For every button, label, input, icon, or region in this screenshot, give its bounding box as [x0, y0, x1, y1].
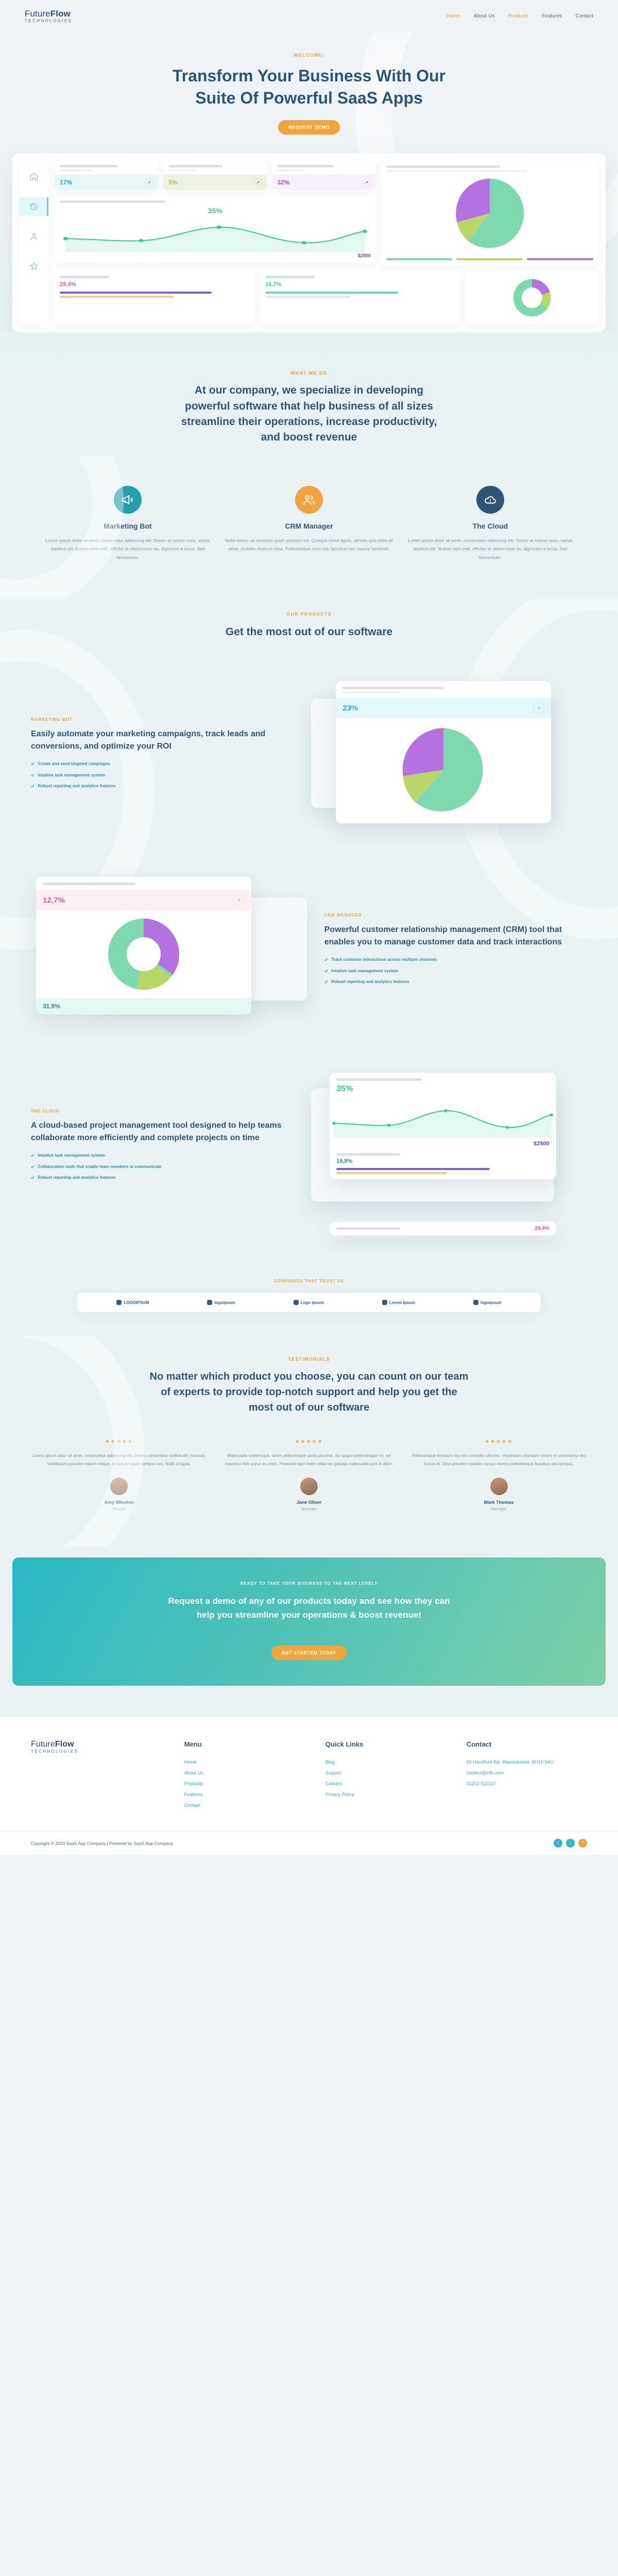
check-icon: ✔: [31, 1153, 35, 1160]
mock-front-card: 12,7% ↗ 31,9%: [36, 877, 251, 1014]
mock-front-card: 35% $2500 16,8%: [330, 1073, 556, 1179]
pie-chart: [398, 724, 489, 815]
check-icon: ✔: [31, 772, 35, 779]
donut-chart: [513, 279, 551, 317]
line-chart-amount: $2500: [60, 253, 371, 258]
what-we-do-title: At our company, we specialize in develop…: [175, 383, 443, 446]
bullet-text: Create and send targeted campaigns: [38, 761, 110, 767]
testimonial-name: Amy Winston: [31, 1500, 208, 1505]
users-icon: [295, 486, 323, 514]
company-logo: Logo ipsum: [294, 1300, 324, 1305]
footer-link-blog[interactable]: Blog: [325, 1759, 446, 1765]
feature-heading: A cloud-based project management tool de…: [31, 1120, 294, 1144]
footer-address: 56 Hendford Rd, Warwickshire, BH10 5AU: [467, 1759, 587, 1765]
card-marketing-bot: Marketing Bot Lorem ipsum dolor sit amet…: [43, 486, 213, 562]
nav-item-features[interactable]: Features: [542, 13, 562, 19]
check-icon: ✔: [31, 1175, 35, 1182]
products-title: Get the most out of our software: [0, 624, 618, 640]
line-chart-panel: 35% $2500: [55, 195, 376, 263]
kpi-value: 5%: [168, 179, 177, 186]
kpi-card: 5% ↗: [163, 160, 267, 190]
footer-link-products[interactable]: Products: [184, 1781, 305, 1786]
feature-visual: 35% $2500 16,8%: [311, 1073, 587, 1222]
feature-visual: 23% ↗: [311, 681, 587, 831]
request-demo-button[interactable]: REQUEST DEMO: [278, 120, 340, 134]
what-we-do-eyebrow: WHAT WE DO: [0, 370, 618, 376]
footer-link-privacy[interactable]: Privacy Policy: [325, 1792, 446, 1797]
footer-brand: FutureFlow TECHNOLOGIES: [31, 1740, 164, 1814]
company-logo-label: logoipsum: [214, 1300, 235, 1305]
rating-stars-icon: ★★★★★: [410, 1439, 587, 1445]
testimonial-list: ★★★★★ Lorem ipsum dolor sit amet, consec…: [0, 1439, 618, 1511]
bullet-text: Intuitive task management system: [38, 1153, 105, 1159]
feature-cards: Marketing Bot Lorem ipsum dolor sit amet…: [0, 456, 618, 599]
trend-up-icon: ↗: [533, 702, 544, 714]
footer-link-about[interactable]: About Us: [184, 1770, 305, 1775]
trend-up-icon: ↗: [145, 178, 153, 187]
footer-menu-column: Menu Home About Us Products Features Con…: [184, 1740, 305, 1814]
stat-panel-b: 16,7%: [260, 270, 460, 325]
stat-value: 16,7%: [265, 281, 281, 287]
bullet-text: Robust reporting and analytics features: [38, 783, 116, 789]
mock-front-card: 23% ↗: [336, 681, 551, 823]
star-icon: [29, 262, 39, 271]
kpi-value: 17%: [60, 179, 72, 186]
footer-link-features[interactable]: Features: [184, 1792, 305, 1797]
cta-label: READY TO TAKE YOUR BUSINESS TO THE NEXT …: [23, 1581, 595, 1586]
testimonial-name: Mark Thomas: [410, 1500, 587, 1505]
card-body: Lorem ipsum dolor sit amet, consectetur …: [405, 536, 575, 562]
sidebar-item-profile[interactable]: [20, 227, 48, 246]
company-logo: Lorem Ipsum: [382, 1300, 415, 1305]
footer-bar: Copyright © 2023 SaaS App Company | Powe…: [0, 1831, 618, 1855]
feature-label: MARKETING BOT: [31, 717, 294, 722]
testimonial-quote: Lorem ipsum dolor sit amet, consectetur …: [31, 1452, 208, 1468]
feature-stat: 35%: [336, 1084, 549, 1094]
feature-sub-b: 29,4%: [535, 1226, 549, 1231]
donut-bottom-stat: 31,9%: [43, 1003, 60, 1010]
cta-title: Request a demo of any of our products to…: [165, 1594, 453, 1622]
feature-sub-a: 16,8%: [336, 1158, 549, 1164]
bullet-item: ✔Intuitive task management system: [324, 968, 587, 975]
feature-heading: Powerful customer relationship managemen…: [324, 924, 587, 948]
check-icon: ✔: [31, 1164, 35, 1171]
copyright-text: Copyright © 2023 SaaS App Company | Powe…: [31, 1841, 173, 1846]
logo-mark-icon: [294, 1300, 299, 1305]
card-crm-manager: CRM Manager Nulla metus, ac tincidunt qu…: [224, 486, 394, 562]
user-icon: [29, 232, 39, 241]
footer-contact-title: Contact: [467, 1740, 587, 1748]
testimonial-item: ★★★★★ Lorem ipsum dolor sit amet, consec…: [31, 1439, 208, 1511]
brand-tagline: TECHNOLOGIES: [25, 19, 72, 23]
sidebar-item-favorites[interactable]: [20, 257, 48, 276]
footer-email[interactable]: contact@info.com: [467, 1770, 587, 1775]
dashboard-sidebar: [20, 160, 48, 325]
page-root: FutureFlow TECHNOLOGIES Home About Us Pr…: [0, 0, 618, 1855]
bullet-text: Collaboration tools that enable team mem…: [38, 1164, 162, 1170]
check-icon: ✔: [31, 783, 35, 790]
brand-tagline: TECHNOLOGIES: [31, 1750, 164, 1754]
site-header: FutureFlow TECHNOLOGIES Home About Us Pr…: [0, 0, 618, 32]
trend-up-icon: ↗: [253, 178, 262, 187]
bullet-text: Track customer interactions across multi…: [331, 957, 437, 963]
company-logo: logoipsum: [207, 1300, 235, 1305]
feature-marketing-bot: MARKETING BOT Easily automate your marke…: [0, 666, 618, 861]
donut-top-stat: 12,7%: [43, 896, 65, 905]
feature-label: THE CLOUD: [31, 1109, 294, 1113]
stat-panel-a: 29,4%: [55, 270, 255, 325]
testimonials-title: No matter which product you choose, you …: [149, 1369, 469, 1415]
feature-visual: 12,7% ↗ 31,9%: [31, 877, 307, 1026]
kpi-card: 17% ↗: [55, 160, 158, 190]
card-the-cloud: The Cloud Lorem ipsum dolor sit amet, co…: [405, 486, 575, 562]
logo-mark-icon: [382, 1300, 387, 1305]
avatar: [490, 1478, 508, 1495]
footer-contact-column: Contact 56 Hendford Rd, Warwickshire, BH…: [467, 1740, 587, 1814]
bullet-item: ✔Robust reporting and analytics features: [31, 1175, 294, 1182]
footer-phone[interactable]: 01202 511337: [467, 1781, 587, 1786]
main-nav: Home About Us Products Features Contact: [447, 13, 593, 19]
bullet-text: Robust reporting and analytics features: [331, 979, 409, 985]
products-header: OUR PRODUCTS Get the most out of our sof…: [0, 599, 618, 666]
check-icon: ✔: [31, 761, 35, 768]
testimonials-label: TESTIMONIALS: [0, 1357, 618, 1362]
line-chart-value: 35%: [60, 207, 371, 215]
mock-stat-strip: 29,4%: [330, 1222, 556, 1235]
nav-item-about[interactable]: About Us: [473, 13, 494, 19]
bullet-text: Intuitive task management system: [38, 772, 105, 778]
feature-bullets: ✔Track customer interactions across mult…: [324, 957, 587, 986]
companies-section: COMPANIES THAT TRUST US LOGOIPSUM logoip…: [0, 1253, 618, 1336]
back-to-top-icon[interactable]: ^: [578, 1839, 587, 1848]
brand-name-bold: Flow: [55, 1740, 74, 1749]
brand-name-light: Future: [25, 9, 50, 19]
testimonial-name: Jane Oliver: [221, 1500, 398, 1505]
testimonial-role: Director: [31, 1506, 208, 1511]
company-logo: LOGOIPSUM: [116, 1300, 149, 1305]
social-links: f t ^: [554, 1839, 587, 1848]
line-chart: [60, 216, 371, 253]
twitter-icon[interactable]: t: [566, 1839, 575, 1848]
logo-mark-icon: [207, 1300, 212, 1305]
feature-label: CRM MANAGER: [324, 913, 587, 918]
feature-the-cloud: THE CLOUD A cloud-based project manageme…: [0, 1057, 618, 1253]
cta-banner: READY TO TAKE YOUR BUSINESS TO THE NEXT …: [12, 1557, 606, 1686]
bullet-item: ✔Robust reporting and analytics features: [31, 783, 294, 790]
products-section: OUR PRODUCTS Get the most out of our sof…: [0, 599, 618, 1253]
card-title: CRM Manager: [224, 522, 394, 530]
bullet-item: ✔Collaboration tools that enable team me…: [31, 1164, 294, 1171]
megaphone-icon: [114, 486, 142, 514]
company-logo-label: Lorem Ipsum: [389, 1300, 415, 1305]
history-icon: [29, 202, 39, 211]
logo-mark-icon: [116, 1300, 122, 1305]
bullet-text: Intuitive task management system: [331, 968, 398, 974]
footer-link-careers[interactable]: Careers: [325, 1781, 446, 1786]
bullet-item: ✔Intuitive task management system: [31, 1153, 294, 1160]
feature-heading: Easily automate your marketing campaigns…: [31, 728, 294, 753]
testimonial-item: ★★★★★ Pellentesque tincidunt nisi nec co…: [410, 1439, 587, 1511]
check-icon: ✔: [324, 957, 329, 964]
pie-legend: [386, 258, 593, 260]
what-we-do-section: WHAT WE DO At our company, we specialize…: [0, 332, 618, 456]
company-logo-label: logoipsum: [480, 1300, 501, 1305]
stat-value: 29,4%: [60, 281, 76, 287]
footer-quick-title: Quick Links: [325, 1740, 446, 1748]
page-title: Transform Your Business With Our Suite O…: [165, 65, 453, 109]
trend-up-icon: ↗: [363, 178, 371, 187]
get-started-button[interactable]: GET STARTED TODAY: [271, 1646, 347, 1660]
card-body: Lorem ipsum dolor sit amet, consectetur …: [43, 536, 213, 562]
sidebar-item-home[interactable]: [20, 167, 48, 186]
company-logo-label: Logo ipsum: [301, 1300, 324, 1305]
footer-logo[interactable]: FutureFlow TECHNOLOGIES: [31, 1740, 164, 1754]
kpi-card: 32% ↗: [272, 160, 375, 190]
footer-menu-title: Menu: [184, 1740, 305, 1748]
pie-chart: [451, 175, 528, 252]
company-logos: LOGOIPSUM logoipsum Logo ipsum Lorem Ips…: [77, 1293, 541, 1312]
nav-item-products[interactable]: Products: [508, 13, 528, 19]
testimonial-role: Manager: [410, 1506, 587, 1511]
brand-name-bold: Flow: [50, 9, 71, 19]
footer-link-contact[interactable]: Contact: [184, 1803, 305, 1808]
products-eyebrow: OUR PRODUCTS: [0, 612, 618, 617]
cloud-icon: [476, 486, 504, 514]
feature-bullets: ✔Intuitive task management system ✔Colla…: [31, 1153, 294, 1182]
feature-stat: 23%: [342, 704, 358, 713]
check-icon: ✔: [324, 968, 329, 975]
dashboard-mockup: 17% ↗ 5% ↗: [12, 153, 606, 332]
company-logo-label: LOGOIPSUM: [124, 1300, 149, 1305]
bullet-item: ✔Create and send targeted campaigns: [31, 761, 294, 768]
bullet-item: ✔Intuitive task management system: [31, 772, 294, 779]
pie-chart-panel: [381, 160, 598, 265]
rating-stars-icon: ★★★★★: [31, 1439, 208, 1445]
hero-section: WELCOME! Transform Your Business With Ou…: [0, 32, 618, 332]
card-title: The Cloud: [405, 522, 575, 530]
testimonial-item: ★★★★★ Malesuada scelerisque, lorem pelle…: [221, 1439, 398, 1511]
nav-item-contact[interactable]: Contact: [576, 13, 593, 19]
bullet-item: ✔Robust reporting and analytics features: [324, 979, 587, 986]
company-logo: logoipsum: [473, 1300, 501, 1305]
bullet-text: Robust reporting and analytics features: [38, 1175, 116, 1181]
facebook-icon[interactable]: f: [554, 1839, 562, 1848]
feature-bullets: ✔Create and send targeted campaigns ✔Int…: [31, 761, 294, 790]
line-chart: [330, 1098, 556, 1139]
trend-up-icon: ↗: [233, 894, 245, 906]
sidebar-item-history[interactable]: [20, 197, 48, 216]
bullet-item: ✔Track customer interactions across mult…: [324, 957, 587, 964]
kpi-value: 32%: [277, 179, 289, 186]
home-icon: [29, 172, 39, 181]
footer-quicklinks-column: Quick Links Blog Support Careers Privacy…: [325, 1740, 446, 1814]
rating-stars-icon: ★★★★★: [221, 1439, 398, 1445]
testimonial-quote: Malesuada scelerisque, lorem pellentesqu…: [221, 1452, 398, 1468]
avatar: [110, 1478, 128, 1495]
brand-name-light: Future: [31, 1740, 55, 1749]
feature-crm-manager: CRM MANAGER Powerful customer relationsh…: [0, 861, 618, 1057]
site-footer: FutureFlow TECHNOLOGIES Menu Home About …: [0, 1717, 618, 1831]
check-icon: ✔: [324, 979, 329, 986]
footer-link-home[interactable]: Home: [184, 1759, 305, 1765]
footer-link-support[interactable]: Support: [325, 1770, 446, 1775]
testimonials-section: TESTIMONIALS No matter which product you…: [0, 1336, 618, 1547]
companies-label: COMPANIES THAT TRUST US: [0, 1279, 618, 1283]
testimonial-quote: Pellentesque tincidunt nisi nec convalli…: [410, 1452, 587, 1468]
logo-mark-icon: [473, 1300, 478, 1305]
avatar: [300, 1478, 318, 1495]
feature-amount: $2500: [330, 1139, 556, 1151]
card-body: Nulla metus, ac tincidunt quam posuere v…: [224, 536, 394, 553]
testimonial-role: Manager: [221, 1506, 398, 1511]
cta-wrapper: READY TO TAKE YOUR BUSINESS TO THE NEXT …: [0, 1547, 618, 1717]
donut-chart: [105, 916, 182, 993]
brand-logo[interactable]: FutureFlow TECHNOLOGIES: [25, 9, 72, 23]
card-title: Marketing Bot: [43, 522, 213, 530]
donut-panel: [466, 270, 598, 325]
nav-item-home[interactable]: Home: [447, 13, 460, 19]
